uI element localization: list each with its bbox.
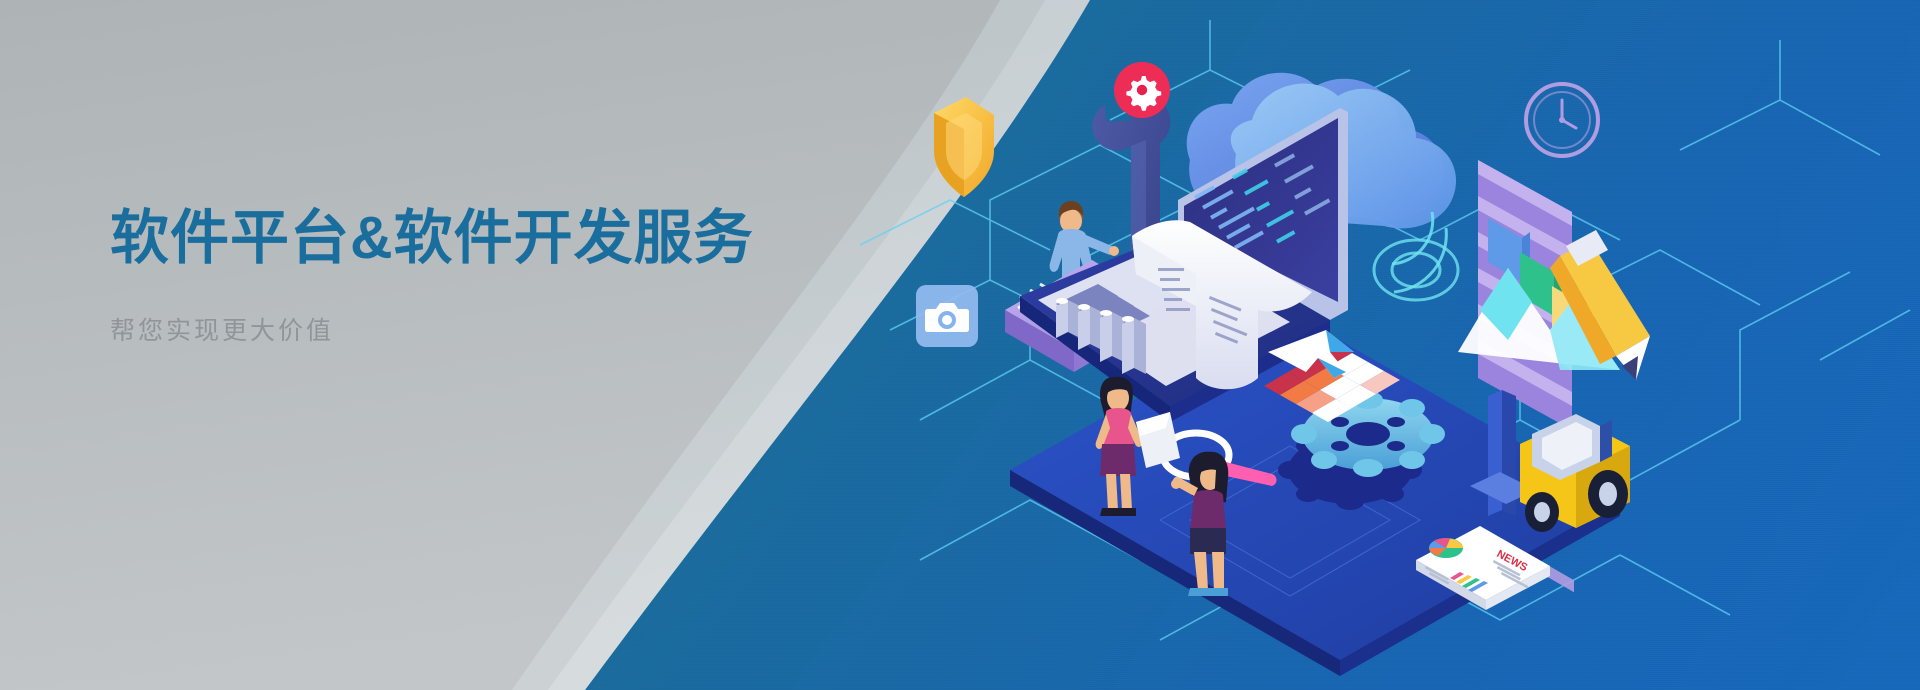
page-subtitle: 帮您实现更大价值 <box>110 311 870 347</box>
clock-icon <box>1526 84 1598 156</box>
illustration-svg: NEWS <box>860 0 1920 690</box>
hero-illustration: NEWS <box>860 0 1920 690</box>
hero-banner: 软件平台&软件开发服务 帮您实现更大价值 <box>0 0 1920 690</box>
shield-icon <box>934 97 994 197</box>
camera-icon <box>916 285 978 347</box>
hero-copy: 软件平台&软件开发服务 帮您实现更大价值 <box>110 205 870 347</box>
gear-badge-icon <box>1114 62 1170 118</box>
page-title: 软件平台&软件开发服务 <box>110 205 870 273</box>
